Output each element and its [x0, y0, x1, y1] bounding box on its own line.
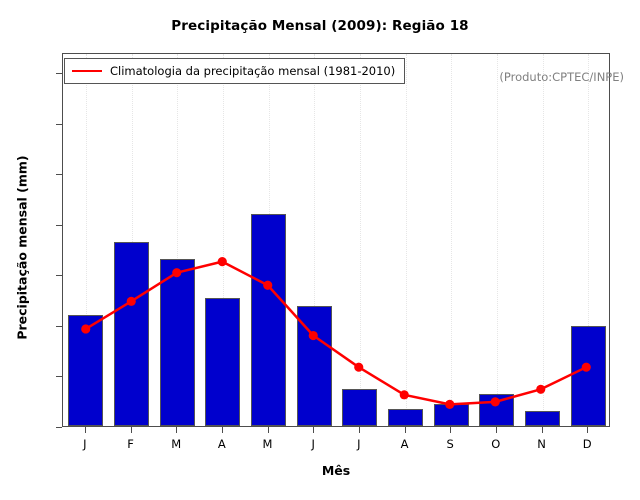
climatology-marker: [491, 397, 500, 406]
legend-line-swatch: [72, 70, 102, 72]
x-axis-tick-label: M: [248, 437, 288, 451]
x-axis-title: Mês: [62, 463, 610, 478]
climatology-marker: [354, 363, 363, 372]
x-axis-tick-label: O: [476, 437, 516, 451]
x-axis-tick-label: J: [65, 437, 105, 451]
climatology-marker: [81, 324, 90, 333]
x-axis-tick-label: J: [339, 437, 379, 451]
x-axis-tick-label: N: [522, 437, 562, 451]
x-axis-tick-label: M: [156, 437, 196, 451]
x-axis-tick-label: A: [202, 437, 242, 451]
producer-credit: (Produto:CPTEC/INPE): [499, 70, 624, 84]
x-axis-tick-mark: [268, 427, 269, 433]
x-axis-tick-label: J: [293, 437, 333, 451]
x-axis-tick-mark: [313, 427, 314, 433]
x-axis-tick-mark: [542, 427, 543, 433]
x-axis-tick-mark: [496, 427, 497, 433]
x-axis-tick-mark: [405, 427, 406, 433]
climatology-marker: [127, 297, 136, 306]
x-axis-tick-label: A: [385, 437, 425, 451]
y-axis-title: Precipitação mensal (mm): [15, 118, 30, 378]
x-axis-tick-mark: [359, 427, 360, 433]
climatology-marker: [218, 257, 227, 266]
climatology-marker: [445, 400, 454, 409]
climatology-marker: [400, 390, 409, 399]
x-axis-tick-mark: [450, 427, 451, 433]
x-axis-tick-mark: [131, 427, 132, 433]
x-axis-tick-mark: [85, 427, 86, 433]
climatology-marker: [582, 363, 591, 372]
x-axis-tick-label: D: [567, 437, 607, 451]
x-axis-tick-mark: [587, 427, 588, 433]
y-axis-tick-mark: [56, 427, 62, 428]
climatology-markers: [81, 257, 591, 409]
climatology-marker: [309, 331, 318, 340]
plot-area: [62, 53, 610, 427]
climatology-line-series: [63, 54, 609, 426]
climatology-marker: [172, 268, 181, 277]
x-axis-tick-label: S: [430, 437, 470, 451]
chart-title: Precipitação Mensal (2009): Região 18: [0, 18, 640, 34]
legend: Climatologia da precipitação mensal (198…: [64, 58, 405, 84]
climatology-marker: [536, 385, 545, 394]
climatology-line: [86, 262, 587, 405]
x-axis-tick-mark: [176, 427, 177, 433]
legend-label-climatology: Climatologia da precipitação mensal (198…: [110, 64, 395, 78]
plot-inner: [63, 54, 609, 426]
climatology-marker: [263, 281, 272, 290]
x-axis-tick-label: F: [111, 437, 151, 451]
x-axis-tick-mark: [222, 427, 223, 433]
